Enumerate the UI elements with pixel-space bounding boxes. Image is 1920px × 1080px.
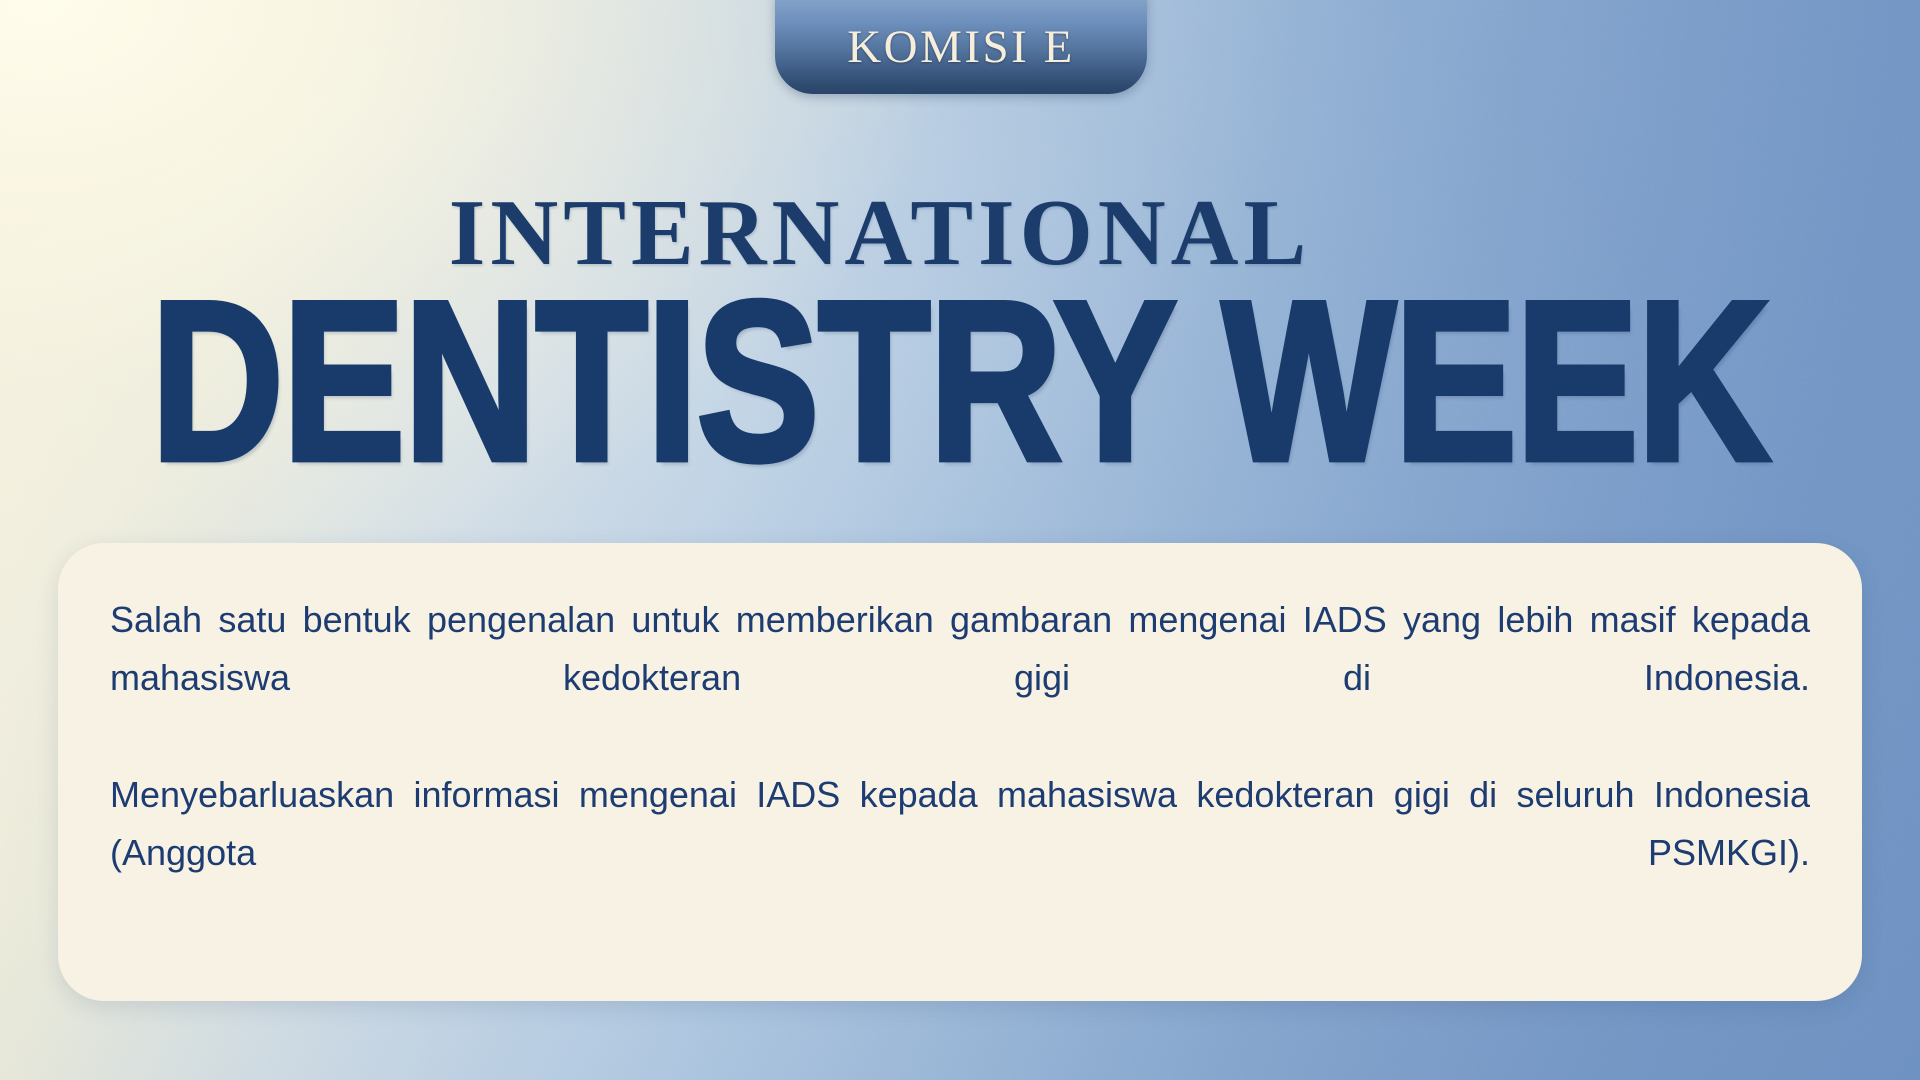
komisi-badge-label: KOMISI E (847, 20, 1075, 74)
description-text: Salah satu bentuk pengenalan untuk membe… (110, 591, 1810, 941)
slide-canvas: KOMISI E INTERNATIONAL DENTISTRY WEEK Sa… (0, 0, 1920, 1080)
komisi-badge: KOMISI E (775, 0, 1147, 94)
description-paragraph-2: Menyebarluaskan informasi mengenai IADS … (110, 766, 1810, 941)
headline-line-dentistry-week: DENTISTRY WEEK (0, 274, 1920, 492)
description-paragraph-1: Salah satu bentuk pengenalan untuk membe… (110, 591, 1810, 766)
description-card: Salah satu bentuk pengenalan untuk membe… (58, 543, 1862, 1001)
headline-block: INTERNATIONAL DENTISTRY WEEK (0, 186, 1920, 447)
